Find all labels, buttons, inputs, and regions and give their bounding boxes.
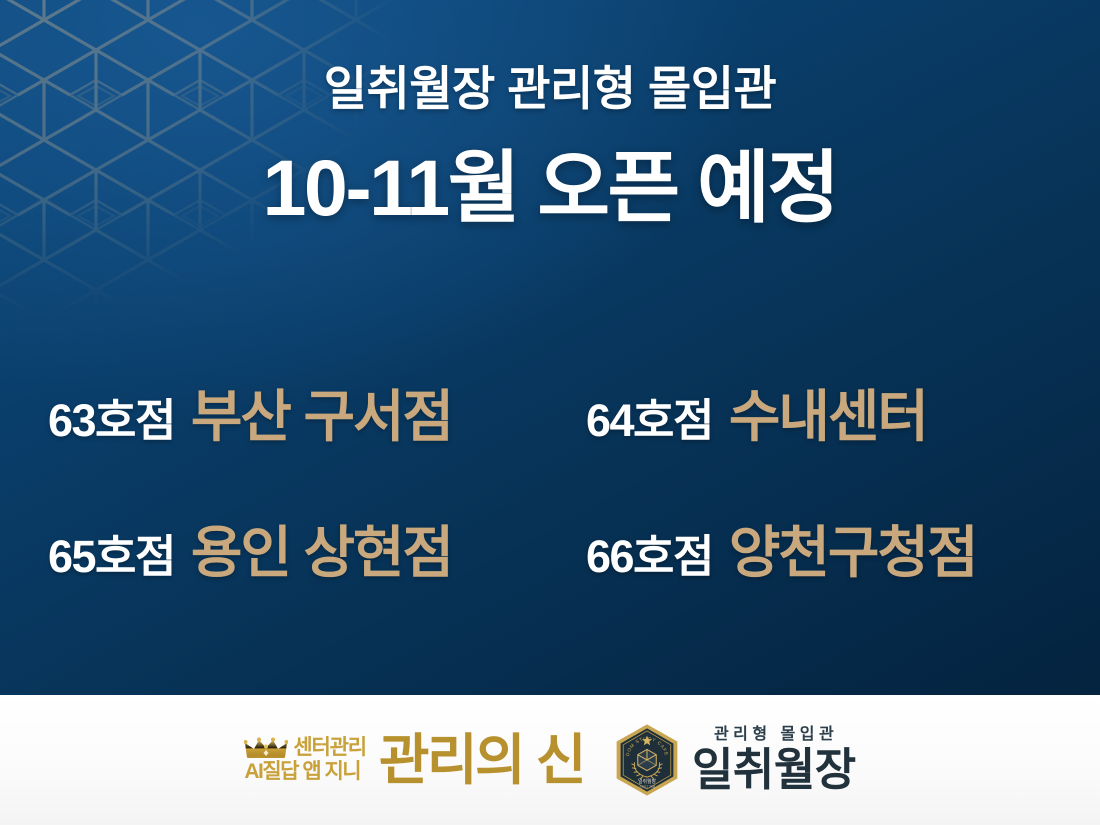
brand-left-name: 관리의 신	[379, 733, 584, 788]
store-number: 66호점	[586, 520, 713, 585]
store-name: 양천구청점	[729, 508, 977, 589]
footer-logo-bar: 센터관리 AI질답 앱 지니 관리의 신	[0, 695, 1100, 825]
page-subtitle: 10-11월 오픈 예정	[0, 145, 1100, 230]
brand-right-superscript: 관리형 몰입관	[709, 727, 838, 743]
hero-background: 일취월장 관리형 몰입관 10-11월 오픈 예정 63호점 부산 구서점 64…	[0, 0, 1100, 695]
hexagon-badge-icon: DOM STUDY CAFE 일취월장 스터디 카페	[614, 723, 680, 797]
brand-right-text-block: 관리형 몰입관 일취월장	[692, 727, 856, 793]
store-number: 65호점	[48, 520, 175, 585]
store-name: 용인 상현점	[191, 508, 452, 589]
brand-left-tagline-top: 센터관리	[293, 737, 365, 758]
brand-left-tagline-top-row: 센터관리	[244, 737, 365, 759]
store-item: 63호점 부산 구서점	[48, 372, 578, 453]
store-number: 63호점	[48, 384, 175, 449]
brand-logo-gwanrieui-sin: 센터관리 AI질답 앱 지니 관리의 신	[244, 733, 584, 788]
store-item: 64호점 수내센터	[578, 372, 1058, 453]
store-name: 부산 구서점	[191, 372, 452, 453]
page-title: 일취월장 관리형 몰입관	[0, 62, 1100, 117]
svg-text:스터디 카페: 스터디 카페	[639, 784, 655, 789]
brand-right-name: 일취월장	[692, 746, 856, 793]
brand-left-tagline-bottom-row: AI질답 앱 지니	[244, 761, 360, 782]
store-number: 64호점	[586, 384, 713, 449]
crown-icon	[244, 737, 288, 759]
brand-left-tagline-block: 센터관리 AI질답 앱 지니	[244, 737, 365, 784]
brand-logo-ilchwiwoljang: DOM STUDY CAFE 일취월장 스터디 카페	[614, 723, 856, 797]
headline-block: 일취월장 관리형 몰입관 10-11월 오픈 예정	[0, 62, 1100, 230]
store-name: 수내센터	[729, 372, 927, 453]
store-list: 63호점 부산 구서점 64호점 수내센터 65호점 용인 상현점 66호점 양…	[48, 372, 1058, 589]
store-item: 65호점 용인 상현점	[48, 508, 578, 589]
promo-poster: 일취월장 관리형 몰입관 10-11월 오픈 예정 63호점 부산 구서점 64…	[0, 0, 1100, 825]
brand-left-tagline-bottom: AI질답 앱 지니	[244, 761, 360, 782]
store-item: 66호점 양천구청점	[578, 508, 1058, 589]
